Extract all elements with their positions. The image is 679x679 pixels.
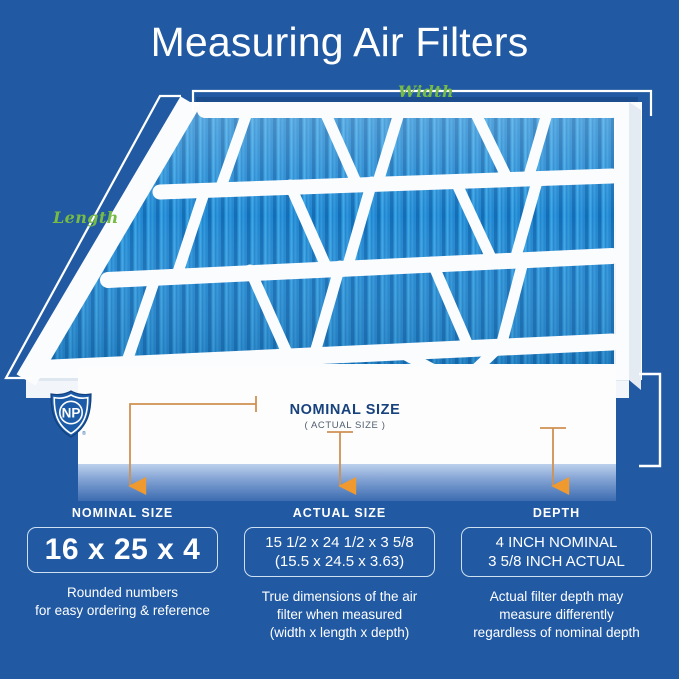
value-line-1: 15 1/2 x 24 1/2 x 3 5/8 bbox=[265, 533, 413, 552]
value-line-2: (15.5 x 24.5 x 3.63) bbox=[275, 552, 404, 571]
page-title: Measuring Air Filters bbox=[0, 22, 679, 63]
column-header: ACTUAL SIZE bbox=[233, 506, 446, 520]
column-note: Actual filter depth maymeasure different… bbox=[450, 588, 663, 641]
connector-lines bbox=[0, 360, 679, 510]
connector-actual bbox=[327, 432, 353, 486]
value-box: 4 INCH NOMINAL 3 5/8 INCH ACTUAL bbox=[461, 527, 652, 577]
connector-nominal bbox=[130, 396, 256, 486]
value-line-1: 4 INCH NOMINAL bbox=[496, 533, 618, 552]
column-note: Rounded numbersfor easy ordering & refer… bbox=[16, 584, 229, 620]
column-nominal-size: NOMINAL SIZE 16 x 25 x 4 Rounded numbers… bbox=[16, 506, 229, 620]
column-depth: DEPTH 4 INCH NOMINAL 3 5/8 INCH ACTUAL A… bbox=[450, 506, 663, 642]
column-header: NOMINAL SIZE bbox=[16, 506, 229, 520]
column-note: True dimensions of the airfilter when me… bbox=[233, 588, 446, 641]
column-header: DEPTH bbox=[450, 506, 663, 520]
connector-depth bbox=[540, 428, 566, 486]
column-actual-size: ACTUAL SIZE 15 1/2 x 24 1/2 x 3 5/8 (15.… bbox=[233, 506, 446, 642]
value-line-2: 3 5/8 INCH ACTUAL bbox=[488, 552, 625, 571]
value-primary: 16 x 25 x 4 bbox=[45, 534, 201, 566]
infographic-canvas: Measuring Air Filters bbox=[0, 0, 679, 679]
label-width: Width bbox=[398, 82, 454, 101]
value-box: 15 1/2 x 24 1/2 x 3 5/8 (15.5 x 24.5 x 3… bbox=[244, 527, 435, 577]
value-box: 16 x 25 x 4 bbox=[27, 527, 218, 573]
label-length: Length bbox=[53, 208, 119, 227]
